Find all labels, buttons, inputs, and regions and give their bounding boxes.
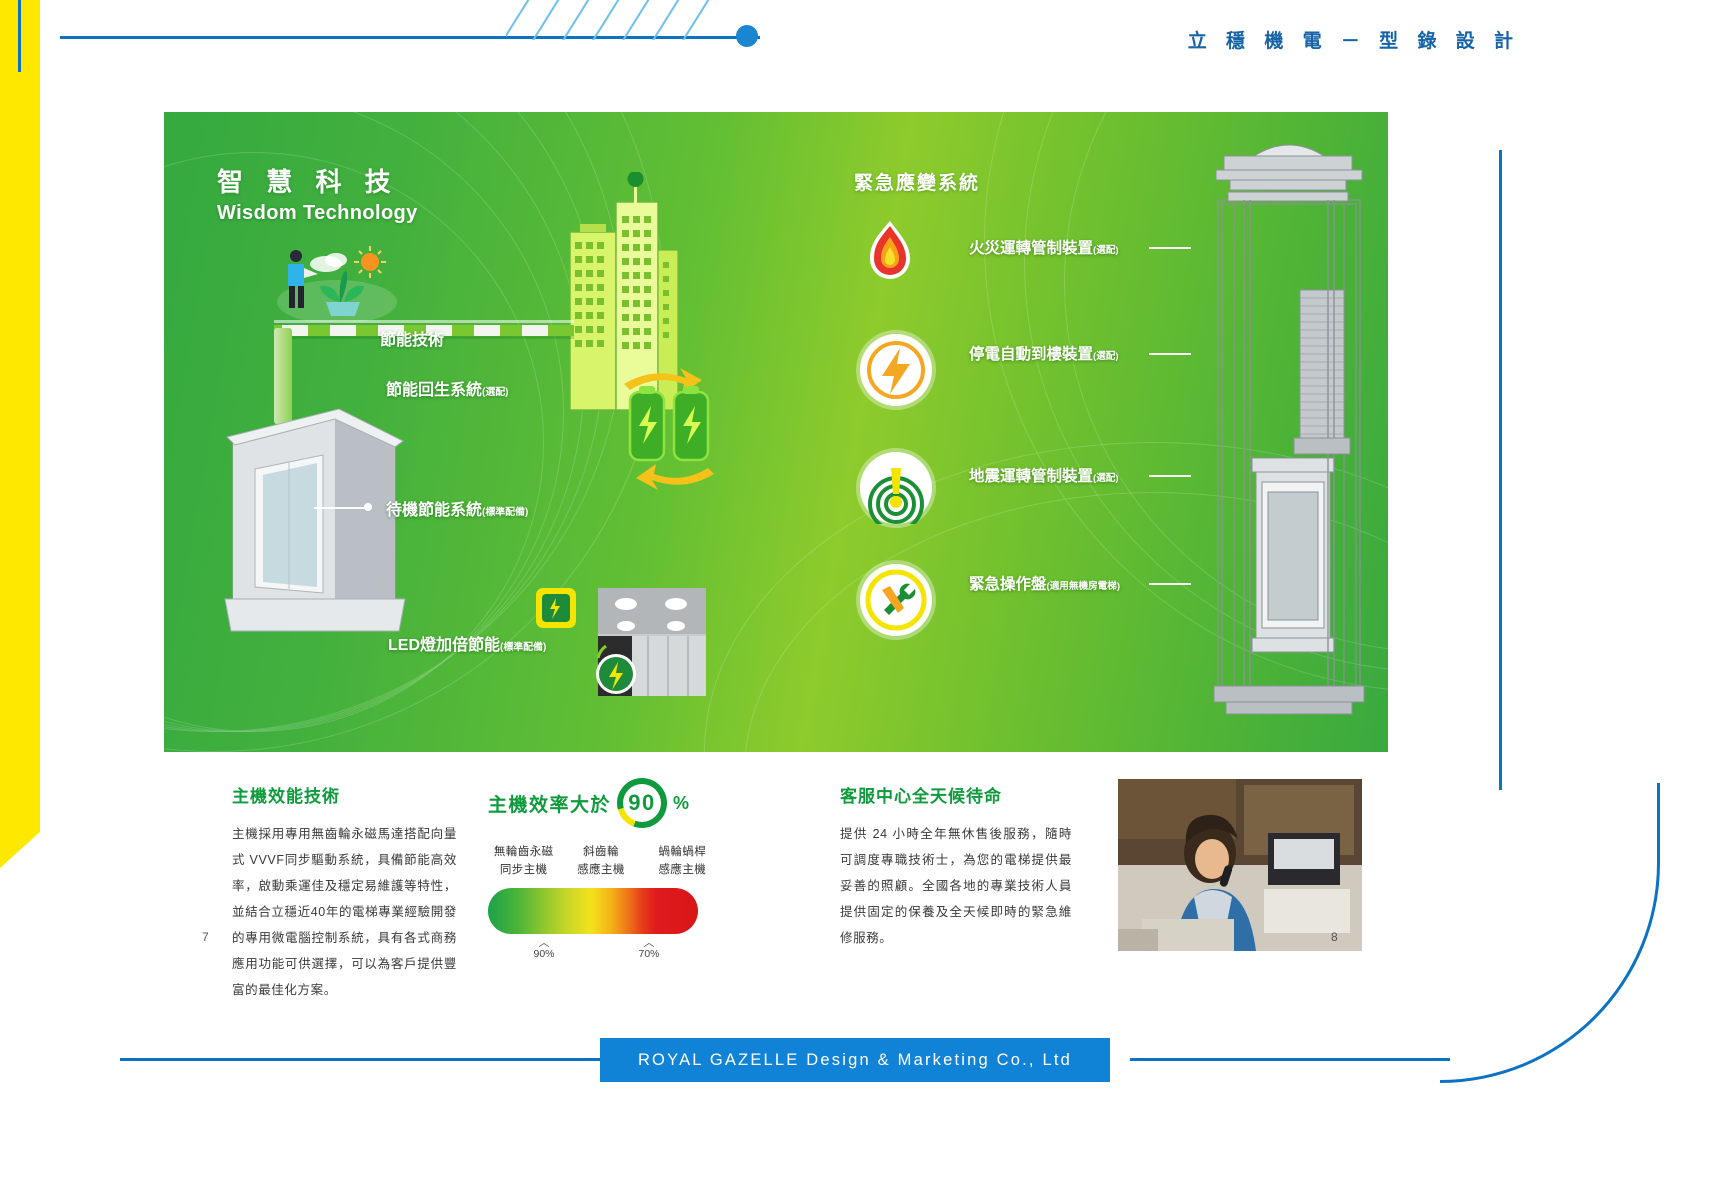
gauge-tick-marks: ︿ 90% ︿ 70%: [488, 938, 698, 972]
elevator-cab-illustration: [219, 407, 409, 637]
footer-rule-left: [120, 1058, 680, 1061]
standby-saving-icon: [534, 584, 578, 632]
gauge-legend: 無輪齒永磁 同步主機 斜齒輪 感應主機 蝸輪蝸桿 感應主機: [488, 844, 718, 880]
gauge-tick-90: ︿ 90%: [524, 938, 564, 960]
page-header-title: 立 穩 機 電 － 型 錄 設 計: [1188, 26, 1520, 53]
gauge-value: 90: [628, 790, 655, 816]
top-hatch-lines: [506, 0, 756, 40]
fire-icon: [854, 217, 926, 289]
connector-power: [1149, 353, 1191, 355]
hero-title-en: Wisdom Technology: [217, 202, 418, 225]
gauge-caret-90: ︿: [524, 938, 564, 948]
footer-company-bar: ROYAL GAZELLE Design & Marketing Co., Lt…: [600, 1038, 1110, 1082]
catalog-page: 立 穩 機 電 － 型 錄 設 計 智 慧 科 技 Wisdom Technol…: [0, 0, 1710, 1201]
efficiency-gauge-widget: 主機效率大於 90 % 無輪齒永磁 同步主機 斜齒輪 感應主機 蝸輪蝸桿 感應主…: [488, 778, 718, 972]
wrench-tool-icon: [860, 564, 932, 636]
earthquake-alert-icon: [860, 452, 932, 524]
efficiency-color-bar: [488, 888, 698, 934]
section-machine-title: 主機效能技術: [232, 782, 457, 807]
hoistway-illustration: [1204, 140, 1374, 720]
connector-fire: [1149, 247, 1191, 249]
feature-label-standby: 待機節能系統(標準配備): [386, 496, 528, 520]
section-machine-performance: 主機效能技術 主機採用專用無齒輪永磁馬達搭配向量式 VVVF同步驅動系統，具備節…: [232, 782, 457, 1003]
gauge-caret-70: ︿: [629, 938, 669, 948]
gauge-legend-2-line2: 感應主機: [565, 862, 636, 880]
gauge-legend-1-line1: 無輪齒永磁: [488, 844, 559, 862]
bottom-right-rule: [1657, 783, 1660, 863]
gauge-tick-70: ︿ 70%: [629, 938, 669, 960]
feature-label-fire-control: 火災運轉管制裝置(選配): [969, 236, 1119, 258]
gauge-legend-2-line1: 斜齒輪: [565, 844, 636, 862]
gauge-legend-item-3: 蝸輪蝸桿 感應主機: [647, 844, 718, 880]
gauge-unit: %: [673, 793, 691, 814]
connector-earthquake: [1149, 475, 1191, 477]
section-service-title: 客服中心全天候待命: [840, 782, 1072, 807]
left-yellow-bar: [0, 0, 40, 832]
section-service-body: 提供 24 小時全年無休售後服務，隨時可調度專職技術士，為您的電梯提供最妥善的照…: [840, 821, 1072, 951]
gauge-tick-70-label: 70%: [638, 948, 659, 960]
gauge-legend-1-line2: 同步主機: [488, 862, 559, 880]
connector-dot-standby: [364, 503, 372, 511]
bottom-right-arc: [1440, 863, 1660, 1083]
left-yellow-notch: [0, 832, 40, 868]
led-ceiling-illustration: [592, 582, 712, 702]
connector-emergency-panel: [1149, 583, 1191, 585]
right-blue-rule: [1499, 150, 1502, 790]
gauge-legend-item-1: 無輪齒永磁 同步主機: [488, 844, 559, 880]
section-customer-service: 客服中心全天候待命 提供 24 小時全年無休售後服務，隨時可調度專職技術士，為您…: [840, 782, 1072, 951]
footer-company-name: ROYAL GAZELLE Design & Marketing Co., Lt…: [638, 1051, 1072, 1070]
gauge-legend-3-line1: 蝸輪蝸桿: [647, 844, 718, 862]
gauge-heading-text: 主機效率大於: [488, 790, 611, 817]
hero-panel: 智 慧 科 技 Wisdom Technology 緊急應變系統: [164, 112, 1388, 752]
page-number-left: 7: [202, 930, 209, 944]
footer-rule-right: [1130, 1058, 1450, 1061]
feature-label-emergency-panel: 緊急操作盤(適用無機房電梯): [969, 572, 1120, 594]
hero-right-title: 緊急應變系統: [854, 168, 980, 195]
feature-label-regeneration: 節能回生系統(選配): [386, 376, 508, 400]
feature-label-energy-saving: 節能技術: [380, 326, 444, 350]
feature-label-earthquake: 地震運轉管制裝置(選配): [969, 464, 1119, 486]
energy-regeneration-icon: [604, 362, 734, 492]
gauge-value-ring: 90: [617, 778, 667, 828]
connector-standby: [314, 507, 366, 509]
lightning-bolt-icon: [860, 334, 932, 406]
feature-label-power-failure: 停電自動到樓裝置(選配): [969, 342, 1119, 364]
feature-label-led: LED燈加倍節能(標準配備): [388, 631, 546, 655]
gauge-legend-item-2: 斜齒輪 感應主機: [565, 844, 636, 880]
gauge-heading: 主機效率大於 90 %: [488, 778, 718, 828]
gauge-tick-90-label: 90%: [533, 948, 554, 960]
customer-service-photo: [1118, 779, 1362, 951]
page-number-right: 8: [1331, 930, 1338, 944]
gauge-legend-3-line2: 感應主機: [647, 862, 718, 880]
eco-person-plant-icon: [274, 242, 404, 322]
hero-title-zh: 智 慧 科 技: [217, 162, 399, 199]
section-machine-body: 主機採用專用無齒輪永磁馬達搭配向量式 VVVF同步驅動系統，具備節能高效率，啟動…: [232, 821, 457, 1003]
